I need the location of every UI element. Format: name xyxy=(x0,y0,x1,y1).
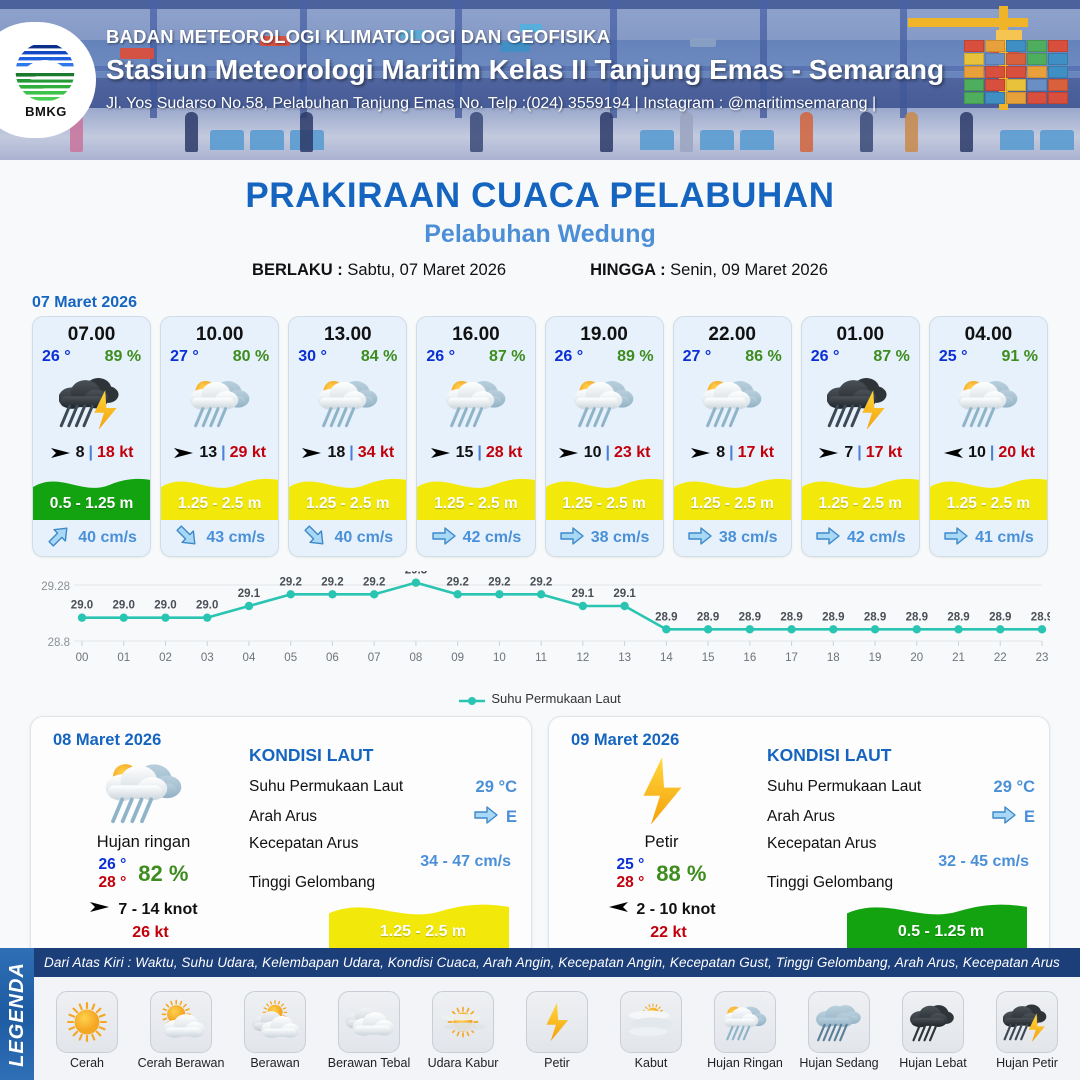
wind-gust: 28 kt xyxy=(486,444,522,462)
thunder-icon xyxy=(526,991,588,1053)
svg-text:19: 19 xyxy=(869,652,882,664)
wind-speed: 7 xyxy=(844,444,853,462)
svg-text:29.2: 29.2 xyxy=(280,576,302,588)
wave-height-label: Tinggi Gelombang xyxy=(249,874,375,892)
forecast-card[interactable]: 10.00 27 ° 80 % 13 | 29 kt 1.25 - 2.5 m xyxy=(160,316,279,557)
wind-direction-arrow-icon xyxy=(942,445,964,461)
card-humidity: 89 % xyxy=(105,348,141,366)
wave-height-value: 1.25 - 2.5 m xyxy=(329,923,517,941)
wind-speed: 10 xyxy=(968,444,986,462)
wave-height-value: 1.25 - 2.5 m xyxy=(802,495,919,513)
svg-text:20: 20 xyxy=(910,652,923,664)
wind-direction-arrow-icon xyxy=(301,445,323,461)
svg-text:29.0: 29.0 xyxy=(113,600,135,612)
card-temperature: 26 ° xyxy=(811,348,840,366)
svg-text:28.9: 28.9 xyxy=(655,611,677,623)
legend-item: Udara Kabur xyxy=(418,991,508,1070)
current-direction-arrow-icon xyxy=(687,525,713,552)
page-header: BMKG BADAN METEOROLOGI KLIMATOLOGI DAN G… xyxy=(0,0,1080,160)
wave-height-block: 1.25 - 2.5 m xyxy=(930,470,1047,520)
card-temperature: 26 ° xyxy=(555,348,584,366)
svg-text:29.3: 29.3 xyxy=(405,571,427,577)
card-temperature: 25 ° xyxy=(939,348,968,366)
wave-height-block: 0.5 - 1.25 m xyxy=(847,895,1035,949)
wave-height-label: Tinggi Gelombang xyxy=(767,874,893,892)
wave-height-value: 1.25 - 2.5 m xyxy=(289,495,406,513)
daily-forecast-row: 08 Maret 2026 Hujan ringan 26 ° 28 ° 82 … xyxy=(0,706,1080,958)
svg-text:29.2: 29.2 xyxy=(488,576,510,588)
svg-text:28.9: 28.9 xyxy=(822,611,844,623)
forecast-date-label: 07 Maret 2026 xyxy=(32,294,1080,312)
wind-separator: | xyxy=(990,444,994,462)
legend-note: Dari Atas Kiri : Waktu, Suhu Udara, Kele… xyxy=(34,948,1080,977)
card-time: 04.00 xyxy=(930,317,1047,346)
svg-text:10: 10 xyxy=(493,652,506,664)
wind-direction-arrow-icon xyxy=(173,445,195,461)
legend-section: LEGENDA Dari Atas Kiri : Waktu, Suhu Uda… xyxy=(0,948,1080,1080)
card-time: 01.00 xyxy=(802,317,919,346)
wave-height-block: 1.25 - 2.5 m xyxy=(161,470,278,520)
svg-text:08: 08 xyxy=(410,652,423,664)
legend-item-label: Petir xyxy=(512,1056,602,1070)
svg-text:21: 21 xyxy=(952,652,965,664)
light-rain-icon xyxy=(674,366,791,438)
wind-gust: 17 kt xyxy=(866,444,902,462)
legend-item: Hujan Lebat xyxy=(888,991,978,1070)
wave-height-block: 0.5 - 1.25 m xyxy=(33,470,150,520)
svg-text:04: 04 xyxy=(243,652,256,664)
svg-text:29.1: 29.1 xyxy=(613,588,636,600)
forecast-card[interactable]: 22.00 27 ° 86 % 8 | 17 kt 1.25 - 2.5 m xyxy=(673,316,792,557)
svg-text:11: 11 xyxy=(535,652,547,664)
current-speed: 43 cm/s xyxy=(206,529,265,547)
svg-text:28.9: 28.9 xyxy=(864,611,886,623)
current-direction-arrow-icon xyxy=(991,804,1017,831)
current-speed-value: 34 - 47 cm/s xyxy=(420,853,511,870)
station-name: Stasiun Meteorologi Maritim Kelas II Tan… xyxy=(106,54,944,86)
day-date: 09 Maret 2026 xyxy=(571,731,679,750)
day-wind-range: 2 - 10 knot xyxy=(636,901,715,919)
header-beam-top xyxy=(0,0,1080,9)
current-direction-arrow-icon xyxy=(943,525,969,552)
day-humidity: 88 % xyxy=(656,861,706,887)
legend-sidebar-label: LEGENDA xyxy=(6,962,29,1067)
current-direction-arrow-icon xyxy=(174,525,200,552)
validity-row: BERLAKU : Sabtu, 07 Maret 2026 HINGGA : … xyxy=(0,261,1080,280)
sst-value: 29 °C xyxy=(476,778,517,797)
wave-height-block: 1.25 - 2.5 m xyxy=(417,470,534,520)
legend-item: Berawan xyxy=(230,991,320,1070)
forecast-card[interactable]: 07.00 26 ° 89 % 8 | 18 kt 0.5 - 1.25 m xyxy=(32,316,151,557)
svg-text:17: 17 xyxy=(785,652,798,664)
wave-height-block: 1.25 - 2.5 m xyxy=(802,470,919,520)
chart-legend: Suhu Permukaan Laut xyxy=(0,691,1080,706)
legend-item: Hujan Ringan xyxy=(700,991,790,1070)
legend-item-label: Berawan Tebal xyxy=(324,1056,414,1070)
legend-item: Hujan Sedang xyxy=(794,991,884,1070)
svg-text:18: 18 xyxy=(827,652,840,664)
current-direction-value: E xyxy=(1024,808,1035,827)
svg-text:28.8: 28.8 xyxy=(48,637,70,649)
light-rain-icon xyxy=(41,751,246,831)
forecast-card[interactable]: 13.00 30 ° 84 % 18 | 34 kt 1.25 - 2.5 m xyxy=(288,316,407,557)
wind-direction-arrow-icon xyxy=(607,899,629,920)
day-temp-max: 28 ° xyxy=(617,874,645,892)
thunderstorm-rain-icon xyxy=(996,991,1058,1053)
station-contact: Jl. Yos Sudarso No.58, Pelabuhan Tanjung… xyxy=(106,95,944,113)
svg-text:29.28: 29.28 xyxy=(41,581,70,593)
card-time: 13.00 xyxy=(289,317,406,346)
sst-label: Suhu Permukaan Laut xyxy=(767,778,921,796)
wind-speed: 15 xyxy=(456,444,474,462)
page-subtitle: Pelabuhan Wedung xyxy=(0,220,1080,249)
title-block: PRAKIRAAN CUACA PELABUHAN Pelabuhan Wedu… xyxy=(0,160,1080,280)
wind-separator: | xyxy=(477,444,481,462)
svg-text:13: 13 xyxy=(618,652,631,664)
wind-speed: 13 xyxy=(199,444,217,462)
agency-name: BADAN METEOROLOGI KLIMATOLOGI DAN GEOFIS… xyxy=(106,26,944,48)
current-direction-label: Arah Arus xyxy=(767,808,835,826)
current-speed: 42 cm/s xyxy=(463,529,522,547)
day-condition: Hujan ringan xyxy=(41,833,246,852)
moderate-rain-icon xyxy=(808,991,870,1053)
legend-item: Kabut xyxy=(606,991,696,1070)
day-temp-max: 28 ° xyxy=(99,874,127,892)
forecast-card-row: 07.00 26 ° 89 % 8 | 18 kt 0.5 - 1.25 m xyxy=(0,316,1080,557)
valid-until: HINGGA : Senin, 09 Maret 2026 xyxy=(590,261,828,280)
wind-separator: | xyxy=(729,444,733,462)
svg-text:16: 16 xyxy=(743,652,756,664)
current-direction-label: Arah Arus xyxy=(249,808,317,826)
card-time: 10.00 xyxy=(161,317,278,346)
fog-icon xyxy=(620,991,682,1053)
card-time: 22.00 xyxy=(674,317,791,346)
svg-text:12: 12 xyxy=(576,652,589,664)
wind-speed: 18 xyxy=(327,444,345,462)
svg-text:06: 06 xyxy=(326,652,339,664)
legend-item-label: Hujan Lebat xyxy=(888,1056,978,1070)
svg-text:15: 15 xyxy=(702,652,715,664)
svg-text:14: 14 xyxy=(660,652,673,664)
svg-text:29.1: 29.1 xyxy=(238,588,261,600)
wave-height-block: 1.25 - 2.5 m xyxy=(329,895,517,949)
valid-until-value: Senin, 09 Maret 2026 xyxy=(670,261,828,279)
wind-direction-arrow-icon xyxy=(558,445,580,461)
svg-text:23: 23 xyxy=(1036,652,1049,664)
cloud-sun-partial-icon xyxy=(244,991,306,1053)
wave-height-block: 1.25 - 2.5 m xyxy=(289,470,406,520)
wind-gust: 34 kt xyxy=(358,444,394,462)
light-rain-icon xyxy=(930,366,1047,438)
legend-item-label: Kabut xyxy=(606,1056,696,1070)
card-temperature: 30 ° xyxy=(298,348,327,366)
card-humidity: 87 % xyxy=(489,348,525,366)
valid-until-label: HINGGA : xyxy=(590,261,665,279)
forecast-card[interactable]: 01.00 26 ° 87 % 7 | 17 kt 1.25 - 2.5 m xyxy=(801,316,920,557)
thunderstorm-rain-icon xyxy=(33,366,150,438)
wind-direction-arrow-icon xyxy=(50,445,72,461)
card-temperature: 26 ° xyxy=(426,348,455,366)
valid-from-label: BERLAKU : xyxy=(252,261,343,279)
legend-item: Berawan Tebal xyxy=(324,991,414,1070)
wind-direction-arrow-icon xyxy=(89,899,111,920)
svg-text:03: 03 xyxy=(201,652,214,664)
valid-from: BERLAKU : Sabtu, 07 Maret 2026 xyxy=(252,261,506,280)
svg-text:07: 07 xyxy=(368,652,381,664)
legend-item-label: Hujan Sedang xyxy=(794,1056,884,1070)
sst-value: 29 °C xyxy=(994,778,1035,797)
light-rain-icon xyxy=(161,366,278,438)
heavy-rain-icon xyxy=(902,991,964,1053)
current-speed-label: Kecepatan Arus xyxy=(767,835,876,853)
wave-height-value: 0.5 - 1.25 m xyxy=(847,923,1035,941)
current-direction-arrow-icon xyxy=(815,525,841,552)
legend-sidebar: LEGENDA xyxy=(0,948,34,1080)
svg-text:29.2: 29.2 xyxy=(321,576,343,588)
chart-legend-label: Suhu Permukaan Laut xyxy=(491,691,620,706)
day-humidity: 82 % xyxy=(138,861,188,887)
wind-direction-arrow-icon xyxy=(430,445,452,461)
wind-separator: | xyxy=(857,444,861,462)
svg-text:01: 01 xyxy=(117,652,130,664)
card-temperature: 27 ° xyxy=(170,348,199,366)
light-rain-icon xyxy=(714,991,776,1053)
bmkg-logo-text: BMKG xyxy=(25,104,67,119)
svg-text:05: 05 xyxy=(284,652,297,664)
current-direction-value: E xyxy=(506,808,517,827)
current-speed: 42 cm/s xyxy=(847,529,906,547)
wave-height-value: 1.25 - 2.5 m xyxy=(674,495,791,513)
wind-direction-arrow-icon xyxy=(690,445,712,461)
legend-item-label: Hujan Petir xyxy=(982,1056,1072,1070)
light-rain-icon xyxy=(289,366,406,438)
wave-height-value: 1.25 - 2.5 m xyxy=(161,495,278,513)
sun-cloud-icon xyxy=(150,991,212,1053)
svg-text:29.0: 29.0 xyxy=(196,600,218,612)
legend-item: Cerah Berawan xyxy=(136,991,226,1070)
svg-text:29.1: 29.1 xyxy=(572,588,595,600)
current-speed: 38 cm/s xyxy=(591,529,650,547)
wind-direction-arrow-icon xyxy=(818,445,840,461)
thunderstorm-rain-icon xyxy=(802,366,919,438)
day-wind-range: 7 - 14 knot xyxy=(118,901,197,919)
day-gust: 26 kt xyxy=(55,924,246,942)
legend-item-label: Hujan Ringan xyxy=(700,1056,790,1070)
svg-text:00: 00 xyxy=(76,652,89,664)
legend-item-label: Cerah Berawan xyxy=(136,1056,226,1070)
svg-text:29.2: 29.2 xyxy=(446,576,468,588)
svg-text:28.9: 28.9 xyxy=(697,611,719,623)
wind-speed: 8 xyxy=(76,444,85,462)
sst-label: Suhu Permukaan Laut xyxy=(249,778,403,796)
wind-separator: | xyxy=(89,444,93,462)
wind-gust: 17 kt xyxy=(738,444,774,462)
svg-text:28.9: 28.9 xyxy=(989,611,1011,623)
svg-text:28.9: 28.9 xyxy=(947,611,969,623)
current-direction-arrow-icon xyxy=(559,525,585,552)
svg-text:29.0: 29.0 xyxy=(71,600,93,612)
svg-text:22: 22 xyxy=(994,652,1007,664)
svg-text:28.9: 28.9 xyxy=(739,611,761,623)
legend-item-label: Berawan xyxy=(230,1056,320,1070)
card-humidity: 87 % xyxy=(873,348,909,366)
day-temp-min: 25 ° xyxy=(617,856,645,874)
wave-height-value: 0.5 - 1.25 m xyxy=(33,495,150,513)
current-speed: 40 cm/s xyxy=(78,529,137,547)
legend-item-label: Udara Kabur xyxy=(418,1056,508,1070)
card-humidity: 91 % xyxy=(1002,348,1038,366)
legend-item: Hujan Petir xyxy=(982,991,1072,1070)
day-date: 08 Maret 2026 xyxy=(53,731,161,750)
sun-icon xyxy=(56,991,118,1053)
card-time: 07.00 xyxy=(33,317,150,346)
svg-text:28.9: 28.9 xyxy=(906,611,928,623)
card-temperature: 26 ° xyxy=(42,348,71,366)
container-stack-icon xyxy=(964,40,1076,112)
card-time: 19.00 xyxy=(546,317,663,346)
current-direction-arrow-icon xyxy=(431,525,457,552)
card-time: 16.00 xyxy=(417,317,534,346)
current-speed: 41 cm/s xyxy=(975,529,1034,547)
heavy-cloud-icon xyxy=(338,991,400,1053)
current-speed: 38 cm/s xyxy=(719,529,778,547)
forecast-card[interactable]: 16.00 26 ° 87 % 15 | 28 kt 1.25 - 2.5 m xyxy=(416,316,535,557)
wind-gust: 23 kt xyxy=(614,444,650,462)
svg-text:29.2: 29.2 xyxy=(530,576,552,588)
light-rain-icon xyxy=(417,366,534,438)
wind-speed: 8 xyxy=(716,444,725,462)
light-rain-icon xyxy=(546,366,663,438)
current-direction-arrow-icon xyxy=(302,525,328,552)
current-speed-value: 32 - 45 cm/s xyxy=(938,853,1029,870)
wind-gust: 29 kt xyxy=(230,444,266,462)
wave-height-block: 1.25 - 2.5 m xyxy=(546,470,663,520)
card-temperature: 27 ° xyxy=(683,348,712,366)
legend-item: Cerah xyxy=(42,991,132,1070)
svg-text:29.0: 29.0 xyxy=(154,600,176,612)
wave-height-value: 1.25 - 2.5 m xyxy=(930,495,1047,513)
page-title: PRAKIRAAN CUACA PELABUHAN xyxy=(0,176,1080,216)
chart-legend-marker xyxy=(459,694,485,704)
card-humidity: 86 % xyxy=(745,348,781,366)
sst-chart: 29.2828.80001020304050607080910111213141… xyxy=(30,571,1050,689)
wind-separator: | xyxy=(349,444,353,462)
day-condition: Petir xyxy=(559,833,764,852)
card-humidity: 80 % xyxy=(233,348,269,366)
daily-forecast-panel[interactable]: 08 Maret 2026 Hujan ringan 26 ° 28 ° 82 … xyxy=(30,716,532,958)
wind-separator: | xyxy=(221,444,225,462)
day-temp-min: 26 ° xyxy=(99,856,127,874)
wind-gust: 18 kt xyxy=(97,444,133,462)
legend-item-label: Cerah xyxy=(42,1056,132,1070)
header-terminal-floor xyxy=(0,108,1080,160)
current-direction-arrow-icon xyxy=(46,525,72,552)
svg-text:29.2: 29.2 xyxy=(363,576,385,588)
sea-condition-title: KONDISI LAUT xyxy=(249,745,517,766)
current-speed: 40 cm/s xyxy=(334,529,393,547)
wave-height-block: 1.25 - 2.5 m xyxy=(674,470,791,520)
svg-text:09: 09 xyxy=(451,652,464,664)
current-direction-arrow-icon xyxy=(473,804,499,831)
haze-sun-icon xyxy=(432,991,494,1053)
current-speed-label: Kecepatan Arus xyxy=(249,835,358,853)
forecast-card[interactable]: 19.00 26 ° 89 % 10 | 23 kt 1.25 - 2.5 m xyxy=(545,316,664,557)
day-gust: 22 kt xyxy=(573,924,764,942)
sea-condition-title: KONDISI LAUT xyxy=(767,745,1035,766)
card-humidity: 84 % xyxy=(361,348,397,366)
thunder-icon xyxy=(559,751,764,831)
wave-height-value: 1.25 - 2.5 m xyxy=(417,495,534,513)
svg-text:28.9: 28.9 xyxy=(1031,611,1050,623)
wind-speed: 10 xyxy=(584,444,602,462)
legend-item-row: Cerah Cerah Berawan Berawan Berawan Teba… xyxy=(34,977,1080,1080)
legend-item: Petir xyxy=(512,991,602,1070)
valid-from-value: Sabtu, 07 Maret 2026 xyxy=(347,261,506,279)
svg-text:02: 02 xyxy=(159,652,172,664)
forecast-card[interactable]: 04.00 25 ° 91 % 10 | 20 kt 1.25 - 2.5 m xyxy=(929,316,1048,557)
daily-forecast-panel[interactable]: 09 Maret 2026 Petir 25 ° 28 ° 88 % xyxy=(548,716,1050,958)
wave-height-value: 1.25 - 2.5 m xyxy=(546,495,663,513)
svg-text:28.9: 28.9 xyxy=(780,611,802,623)
wind-separator: | xyxy=(605,444,609,462)
card-humidity: 89 % xyxy=(617,348,653,366)
bmkg-logo-mark xyxy=(14,41,76,103)
wind-gust: 20 kt xyxy=(998,444,1034,462)
